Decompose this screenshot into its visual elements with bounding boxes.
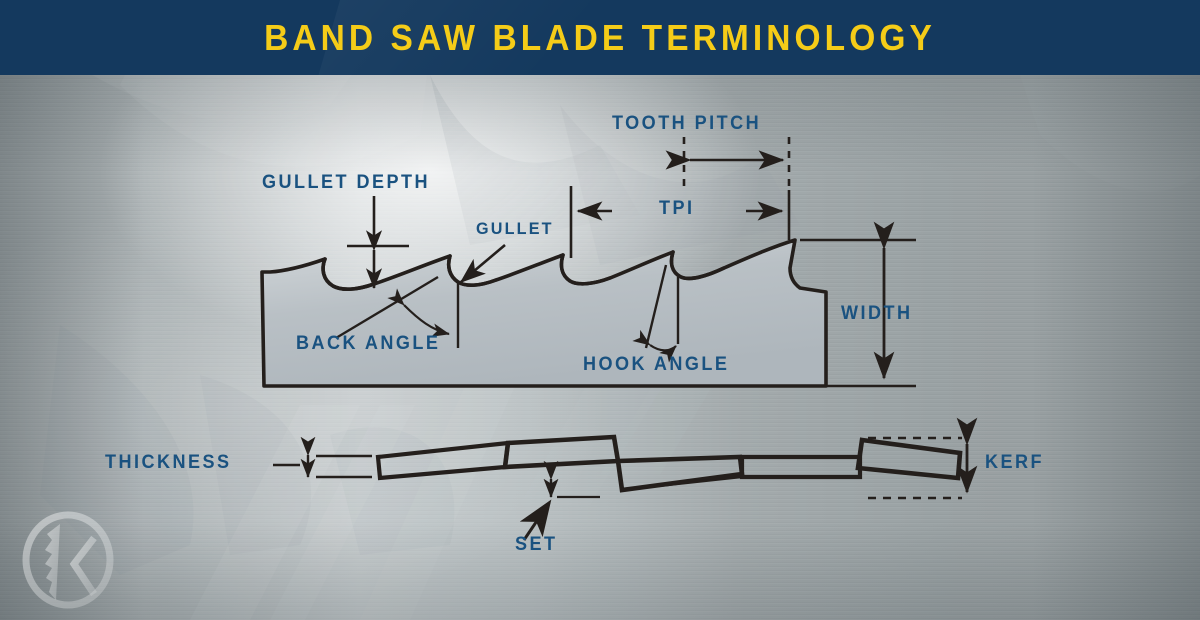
circular-saw-blade-k-logo-icon (16, 508, 120, 612)
blade-strip-mid (742, 457, 860, 477)
label-tooth-pitch: TOOTH PITCH (612, 113, 761, 135)
blade-body-shape (262, 240, 826, 386)
label-gullet: GULLET (476, 219, 554, 239)
tpi-dimension (571, 186, 789, 258)
label-gullet-depth: GULLET DEPTH (262, 172, 430, 194)
label-kerf: KERF (985, 452, 1044, 474)
blade-diagram (0, 0, 1200, 620)
header-bar: BAND SAW BLADE TERMINOLOGY (0, 0, 1200, 75)
tooth-set-up-2 (858, 440, 960, 478)
gullet-pointer (461, 245, 505, 282)
set-view (273, 437, 967, 540)
label-width: WIDTH (841, 303, 913, 325)
label-set: SET (515, 534, 558, 556)
tooth-set-up-1 (505, 437, 618, 467)
blade-strip-center (618, 457, 742, 490)
infographic-page: BAND SAW BLADE TERMINOLOGY (0, 0, 1200, 620)
label-tpi: TPI (659, 198, 694, 220)
label-back-angle: BACK ANGLE (296, 333, 440, 355)
tooth-pitch-dimension (684, 137, 789, 186)
tooth-profile-view (262, 240, 826, 386)
page-title: BAND SAW BLADE TERMINOLOGY (42, 0, 1158, 75)
thickness-dimension (273, 455, 372, 477)
label-hook-angle: HOOK ANGLE (583, 354, 729, 376)
label-thickness: THICKNESS (105, 452, 232, 474)
set-dimension (551, 479, 600, 497)
